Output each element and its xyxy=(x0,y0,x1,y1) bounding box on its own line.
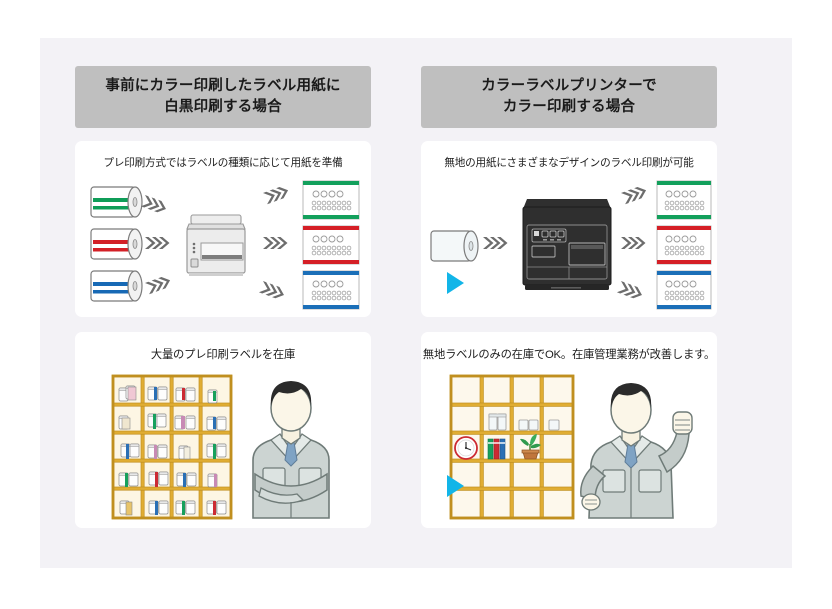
shelf-clock xyxy=(455,437,477,459)
full-shelf xyxy=(113,376,231,518)
header-preprinted-line1: 事前にカラー印刷したラベル用紙に xyxy=(105,78,340,94)
art-preprinted-inventory xyxy=(75,368,371,524)
card-color-workflow: 無地の用紙にさまざまなデザインのラベル印刷が可能 xyxy=(421,141,717,317)
card-color-inventory: 無地ラベルのみの在庫でOK。在庫管理業務が改善します。 xyxy=(421,332,717,528)
label-green xyxy=(303,181,359,219)
roll-blue xyxy=(91,271,142,301)
label-red xyxy=(657,226,711,264)
header-preprinted-line2: 白黒印刷する場合 xyxy=(164,99,282,115)
worker-arms-crossed xyxy=(253,381,329,518)
header-color-printer-line2: カラー印刷する場合 xyxy=(503,99,635,115)
chevron-in-1 xyxy=(141,195,168,215)
header-color-printer: カラーラベルプリンターで カラー印刷する場合 xyxy=(421,66,717,128)
chevron-out-2 xyxy=(263,237,288,249)
chevron-in-1 xyxy=(483,237,508,249)
column-preprinted: 事前にカラー印刷したラベル用紙に 白黒印刷する場合 プレ印刷方式ではラベルの種類… xyxy=(75,66,371,528)
monochrome-printer xyxy=(187,215,245,276)
figure-container: 事前にカラー印刷したラベル用紙に 白黒印刷する場合 プレ印刷方式ではラベルの種類… xyxy=(40,38,792,568)
caption-color-workflow: 無地の用紙にさまざまなデザインのラベル印刷が可能 xyxy=(421,155,717,170)
art-preprinted-workflow xyxy=(75,177,371,313)
header-preprinted: 事前にカラー印刷したラベル用紙に 白黒印刷する場合 xyxy=(75,66,371,128)
chevron-in-3 xyxy=(145,275,172,295)
label-red xyxy=(303,226,359,264)
card-preprinted-inventory: 大量のプレ印刷ラベルを在庫 xyxy=(75,332,371,528)
header-color-printer-line1: カラーラベルプリンターで xyxy=(481,78,657,94)
chevron-out-3 xyxy=(259,281,286,301)
empty-shelf xyxy=(451,376,573,518)
roll-red xyxy=(91,229,142,259)
roll-green xyxy=(91,187,142,217)
art-color-workflow xyxy=(421,177,717,313)
label-blue xyxy=(303,271,359,309)
shelf-binders xyxy=(488,439,505,459)
caption-color-inventory: 無地ラベルのみの在庫でOK。在庫管理業務が改善します。 xyxy=(421,346,717,362)
column-color-printer: カラーラベルプリンターで カラー印刷する場合 無地の用紙にさまざまなデザインのラ… xyxy=(421,66,717,528)
worker-fist-pump xyxy=(581,383,692,518)
caption-preprinted-workflow: プレ印刷方式ではラベルの種類に応じて用紙を準備 xyxy=(75,155,371,170)
chevron-in-2 xyxy=(145,237,170,249)
label-green xyxy=(657,181,711,219)
arrow-top-icon xyxy=(447,272,464,294)
chevron-out-1 xyxy=(621,185,648,205)
card-preprinted-workflow: プレ印刷方式ではラベルの種類に応じて用紙を準備 xyxy=(75,141,371,317)
label-blue xyxy=(657,271,711,309)
color-label-printer xyxy=(523,199,611,290)
caption-preprinted-inventory: 大量のプレ印刷ラベルを在庫 xyxy=(75,346,371,362)
chevron-out-2 xyxy=(621,237,646,249)
roll-blank xyxy=(431,231,478,261)
art-color-inventory xyxy=(421,368,717,524)
figure-root: 事前にカラー印刷したラベル用紙に 白黒印刷する場合 プレ印刷方式ではラベルの種類… xyxy=(0,0,832,609)
chevron-out-1 xyxy=(263,185,290,205)
arrow-bottom-icon xyxy=(447,475,464,497)
chevron-out-3 xyxy=(617,281,644,301)
raised-fist xyxy=(673,412,692,434)
